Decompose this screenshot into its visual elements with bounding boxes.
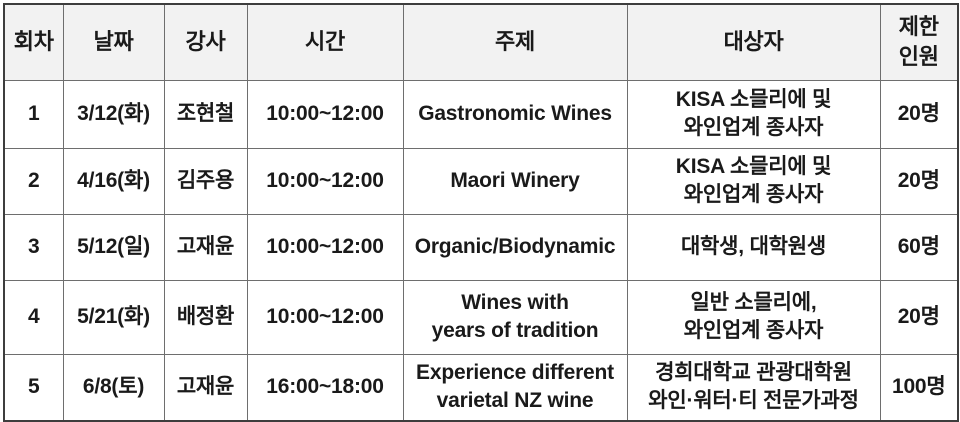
column-header-no: 회차 [4,4,63,80]
cell-time: 10:00~12:00 [247,148,403,214]
cell-topic: Experience different varietal NZ wine [403,354,627,421]
column-header-lecturer: 강사 [164,4,247,80]
topic-text: Maori Winery [408,167,623,195]
cell-target: 경희대학교 관광대학원 와인·워터·티 전문가과정 [627,354,880,421]
cell-time: 10:00~12:00 [247,80,403,148]
cell-target: 일반 소믈리에, 와인업계 종사자 [627,280,880,354]
target-text: KISA 소믈리에 및 와인업계 종사자 [632,153,876,209]
cell-topic: Wines with years of tradition [403,280,627,354]
target-text: 일반 소믈리에, 와인업계 종사자 [632,289,876,345]
schedule-sheet: 회차 날짜 강사 시간 주제 대상자 제한 인원 1 3/12(화) 조현철 1… [0,0,960,422]
cell-time: 16:00~18:00 [247,354,403,421]
cell-capacity: 20명 [880,148,958,214]
table-body: 1 3/12(화) 조현철 10:00~12:00 Gastronomic Wi… [4,80,958,421]
column-header-date: 날짜 [63,4,164,80]
cell-date: 4/16(화) [63,148,164,214]
cell-lecturer: 배정환 [164,280,247,354]
header-row: 회차 날짜 강사 시간 주제 대상자 제한 인원 [4,4,958,80]
cell-topic: Gastronomic Wines [403,80,627,148]
cell-date: 3/12(화) [63,80,164,148]
cell-no: 2 [4,148,63,214]
cell-target: 대학생, 대학원생 [627,214,880,280]
column-header-target: 대상자 [627,4,880,80]
topic-text: Gastronomic Wines [408,100,623,128]
topic-text: Organic/Biodynamic [408,233,623,261]
target-line: 경희대학교 관광대학원 [632,359,876,387]
cell-lecturer: 고재윤 [164,214,247,280]
table-row: 2 4/16(화) 김주용 10:00~12:00 Maori Winery K… [4,148,958,214]
capacity-header-line-1: 제한 [885,12,954,42]
cell-topic: Maori Winery [403,148,627,214]
target-text: 경희대학교 관광대학원 와인·워터·티 전문가과정 [632,359,876,415]
cell-date: 6/8(토) [63,354,164,421]
topic-line: Gastronomic Wines [408,100,623,128]
topic-line: Maori Winery [408,167,623,195]
topic-line: Experience different [408,359,623,387]
table-row: 4 5/21(화) 배정환 10:00~12:00 Wines with yea… [4,280,958,354]
table-header: 회차 날짜 강사 시간 주제 대상자 제한 인원 [4,4,958,80]
target-line: KISA 소믈리에 및 [632,153,876,181]
cell-date: 5/21(화) [63,280,164,354]
target-line: 와인업계 종사자 [632,317,876,345]
column-header-time: 시간 [247,4,403,80]
cell-target: KISA 소믈리에 및 와인업계 종사자 [627,80,880,148]
cell-no: 1 [4,80,63,148]
cell-date: 5/12(일) [63,214,164,280]
cell-time: 10:00~12:00 [247,280,403,354]
cell-target: KISA 소믈리에 및 와인업계 종사자 [627,148,880,214]
cell-no: 3 [4,214,63,280]
cell-time: 10:00~12:00 [247,214,403,280]
target-line: 와인·워터·티 전문가과정 [632,387,876,415]
topic-text: Experience different varietal NZ wine [408,359,623,415]
column-header-topic: 주제 [403,4,627,80]
cell-capacity: 20명 [880,280,958,354]
target-text: 대학생, 대학원생 [632,233,876,261]
cell-no: 5 [4,354,63,421]
topic-line: Wines with [408,289,623,317]
target-line: 대학생, 대학원생 [632,233,876,261]
table-row: 1 3/12(화) 조현철 10:00~12:00 Gastronomic Wi… [4,80,958,148]
schedule-table: 회차 날짜 강사 시간 주제 대상자 제한 인원 1 3/12(화) 조현철 1… [3,3,959,422]
cell-no: 4 [4,280,63,354]
cell-capacity: 60명 [880,214,958,280]
cell-lecturer: 김주용 [164,148,247,214]
target-text: KISA 소믈리에 및 와인업계 종사자 [632,86,876,142]
topic-line: years of tradition [408,317,623,345]
cell-topic: Organic/Biodynamic [403,214,627,280]
target-line: 와인업계 종사자 [632,114,876,142]
target-line: 와인업계 종사자 [632,181,876,209]
target-line: KISA 소믈리에 및 [632,86,876,114]
topic-line: Organic/Biodynamic [408,233,623,261]
cell-lecturer: 고재윤 [164,354,247,421]
topic-text: Wines with years of tradition [408,289,623,345]
topic-line: varietal NZ wine [408,387,623,415]
cell-capacity: 100명 [880,354,958,421]
cell-capacity: 20명 [880,80,958,148]
column-header-capacity: 제한 인원 [880,4,958,80]
table-row: 3 5/12(일) 고재윤 10:00~12:00 Organic/Biodyn… [4,214,958,280]
capacity-header-line-2: 인원 [885,42,954,72]
cell-lecturer: 조현철 [164,80,247,148]
table-row: 5 6/8(토) 고재윤 16:00~18:00 Experience diff… [4,354,958,421]
target-line: 일반 소믈리에, [632,289,876,317]
